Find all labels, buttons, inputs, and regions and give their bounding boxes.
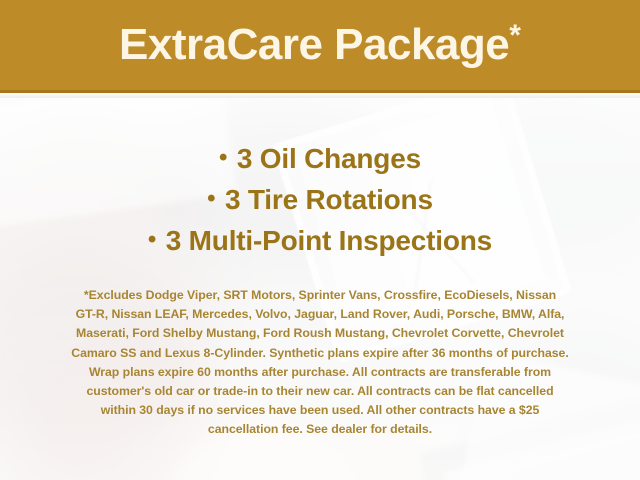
disclaimer-line: Maserati, Ford Shelby Mustang, Ford Rous… bbox=[28, 324, 612, 343]
disclaimer-line: GT-R, Nissan LEAF, Mercedes, Volvo, Jagu… bbox=[28, 305, 612, 324]
disclaimer-line: cancellation fee. See dealer for details… bbox=[28, 420, 612, 439]
disclaimer-text: *Excludes Dodge Viper, SRT Motors, Sprin… bbox=[28, 286, 612, 440]
benefit-item: • 3 Oil Changes bbox=[0, 138, 640, 179]
page-title-text: ExtraCare Package bbox=[119, 20, 509, 69]
disclaimer-line: customer's old car or trade-in to their … bbox=[28, 382, 612, 401]
bullet-icon: • bbox=[219, 144, 229, 171]
disclaimer-line: within 30 days if no services have been … bbox=[28, 401, 612, 420]
disclaimer-line: Camaro SS and Lexus 8-Cylinder. Syntheti… bbox=[28, 344, 612, 363]
disclaimer-line: Wrap plans expire 60 months after purcha… bbox=[28, 363, 612, 382]
benefit-item: • 3 Tire Rotations bbox=[0, 179, 640, 220]
benefit-item: • 3 Multi-Point Inspections bbox=[0, 220, 640, 261]
page-title: ExtraCare Package* bbox=[119, 21, 521, 70]
title-asterisk: * bbox=[509, 19, 521, 52]
bullet-icon: • bbox=[207, 185, 217, 212]
extracare-promo-card: ExtraCare Package* • 3 Oil Changes • 3 T… bbox=[0, 0, 640, 480]
benefit-item-label: 3 Tire Rotations bbox=[225, 184, 433, 215]
header-banner: ExtraCare Package* bbox=[0, 0, 640, 93]
bullet-icon: • bbox=[148, 226, 158, 253]
benefit-item-label: 3 Multi-Point Inspections bbox=[166, 225, 492, 256]
benefits-list: • 3 Oil Changes • 3 Tire Rotations • 3 M… bbox=[0, 138, 640, 261]
benefit-item-label: 3 Oil Changes bbox=[237, 143, 421, 174]
header-underline bbox=[0, 93, 640, 98]
disclaimer-line: *Excludes Dodge Viper, SRT Motors, Sprin… bbox=[28, 286, 612, 305]
